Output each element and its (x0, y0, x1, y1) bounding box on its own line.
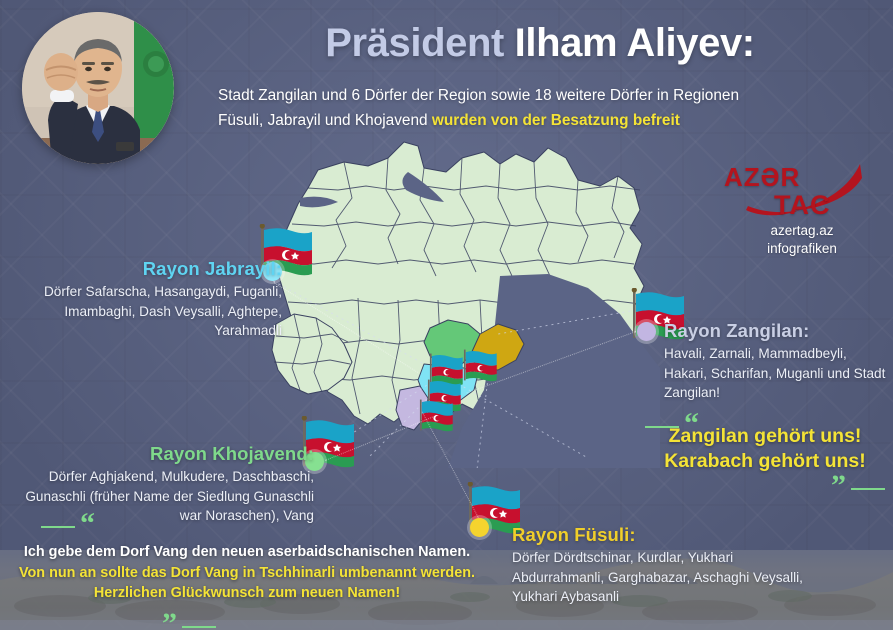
marker-dot-zangilan[interactable] (637, 322, 656, 341)
quote-right-close: ” (831, 482, 890, 500)
flag-marker-fusuli-district (462, 348, 498, 382)
title-main: Ilham Aliyev: (515, 21, 755, 65)
logo-mark: AZƏR TAC (722, 160, 882, 222)
quote-rule-icon (645, 426, 679, 428)
page-title: Präsident Ilham Aliyev: (200, 22, 880, 64)
quote-right: “ Zangilan gehört uns! Karabach gehört u… (640, 424, 890, 474)
region-body-khojavend: Dörfer Aghjakend, Mulkudere, Daschbaschi… (14, 467, 314, 526)
subtitle-highlight: wurden von der Besatzung befreit (432, 112, 680, 129)
region-block-khojavend: Rayon Khojavend: Dörfer Aghjakend, Mulku… (14, 443, 314, 526)
region-heading-fusuli: Rayon Füsuli: (512, 524, 812, 546)
marker-dot-fusuli[interactable] (470, 518, 489, 537)
azerbaijan-flag-icon (462, 348, 498, 382)
quote-left-line-3: Herzlichen Glückwunsch zum neuen Namen! (12, 583, 482, 604)
quote-rule-icon (41, 526, 75, 528)
region-heading-zangilan: Rayon Zangilan: (664, 320, 889, 342)
infographic-root: Präsident Ilham Aliyev: Stadt Zangilan u… (0, 0, 893, 630)
quote-left: “ Ich gebe dem Dorf Vang den neuen aserb… (12, 542, 482, 604)
azertac-logo[interactable]: AZƏR TAC azertag.az infografiken (722, 160, 882, 265)
quote-left-close: ” (162, 620, 221, 630)
quote-open-mark: “ (684, 407, 699, 440)
region-block-zangilan: Rayon Zangilan: Havali, Zarnali, Mammadb… (664, 320, 889, 403)
quote-right-line-2: Karabach gehört uns! (640, 449, 890, 474)
region-heading-khojavend: Rayon Khojavend: (14, 443, 314, 465)
subtitle-line-2-plain: Füsuli, Jabrayil und Khojavend (218, 112, 432, 129)
region-body-zangilan: Havali, Zarnali, Mammadbeyli, Hakari, Sc… (664, 344, 889, 403)
logo-url[interactable]: azertag.az (722, 222, 882, 240)
subtitle-line-1: Stadt Zangilan und 6 Dörfer der Region s… (218, 84, 878, 109)
quote-left-line-2: Von nun an sollte das Dorf Vang in Tschh… (12, 563, 482, 584)
region-block-fusuli: Rayon Füsuli: Dörfer Dördtschinar, Kurdl… (512, 524, 812, 607)
title-prefix: Präsident (325, 21, 514, 65)
avatar (22, 12, 174, 164)
logo-tac-text: TAC (774, 190, 831, 221)
region-body-fusuli: Dörfer Dördtschinar, Kurdlar, Yukhari Ab… (512, 548, 812, 607)
quote-close-mark: ” (162, 607, 177, 630)
region-block-jabrayil: Rayon Jabrayil: Dörfer Safarscha, Hasang… (30, 258, 282, 341)
quote-rule-icon (851, 488, 885, 490)
quote-left-line-1: Ich gebe dem Dorf Vang den neuen aserbai… (12, 542, 482, 563)
quote-rule-icon (182, 626, 216, 628)
region-heading-jabrayil: Rayon Jabrayil: (30, 258, 282, 280)
quote-close-mark: ” (831, 469, 846, 502)
page-subtitle: Stadt Zangilan und 6 Dörfer der Region s… (218, 84, 878, 134)
logo-azer-text: AZƏR (724, 162, 800, 193)
quote-left-open: “ (36, 520, 95, 538)
quote-open-mark: “ (80, 507, 95, 540)
quote-right-open: “ (640, 420, 699, 438)
logo-subtitle: infografiken (722, 240, 882, 258)
region-body-jabrayil: Dörfer Safarscha, Hasangaydi, Fuganli, I… (30, 282, 282, 341)
president-portrait-icon (22, 12, 174, 164)
